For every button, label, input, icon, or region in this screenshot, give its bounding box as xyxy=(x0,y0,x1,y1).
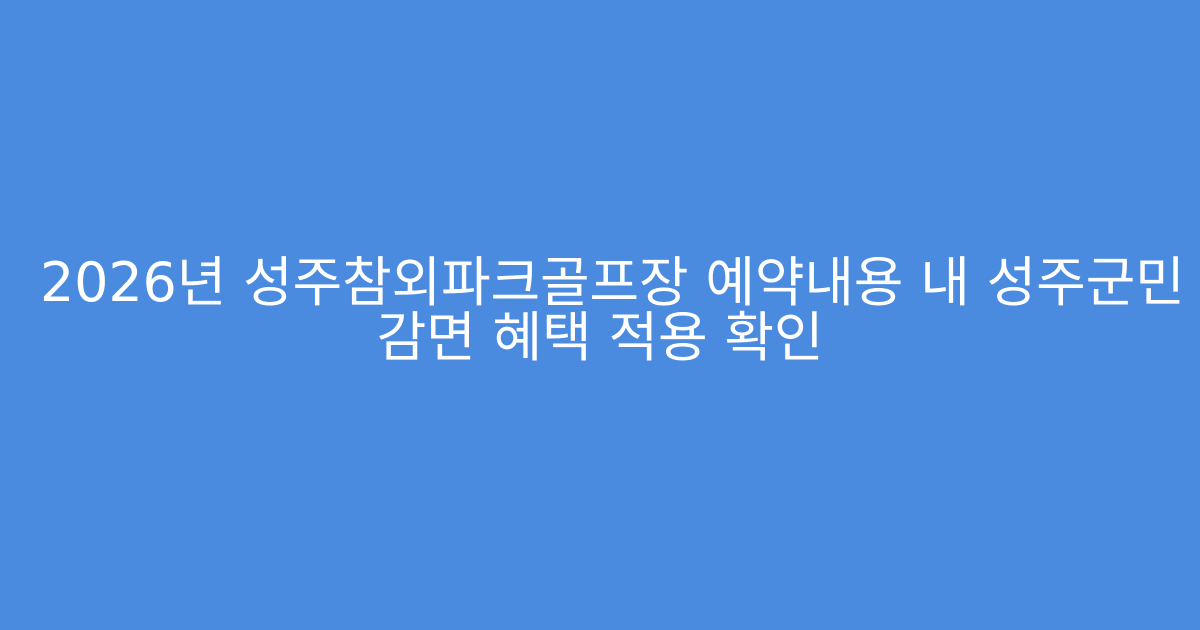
page-title: 2026년 성주참외파크골프장 예약내용 내 성주군민 감면 혜택 적용 확인 xyxy=(40,255,1160,375)
page-title-line-1: 2026년 성주참외파크골프장 예약내용 내 성주군민 xyxy=(40,255,1160,310)
page-title-line-2: 감면 혜택 적용 확인 xyxy=(40,310,1160,365)
og-banner-card: 2026년 성주참외파크골프장 예약내용 내 성주군민 감면 혜택 적용 확인 xyxy=(0,0,1200,630)
